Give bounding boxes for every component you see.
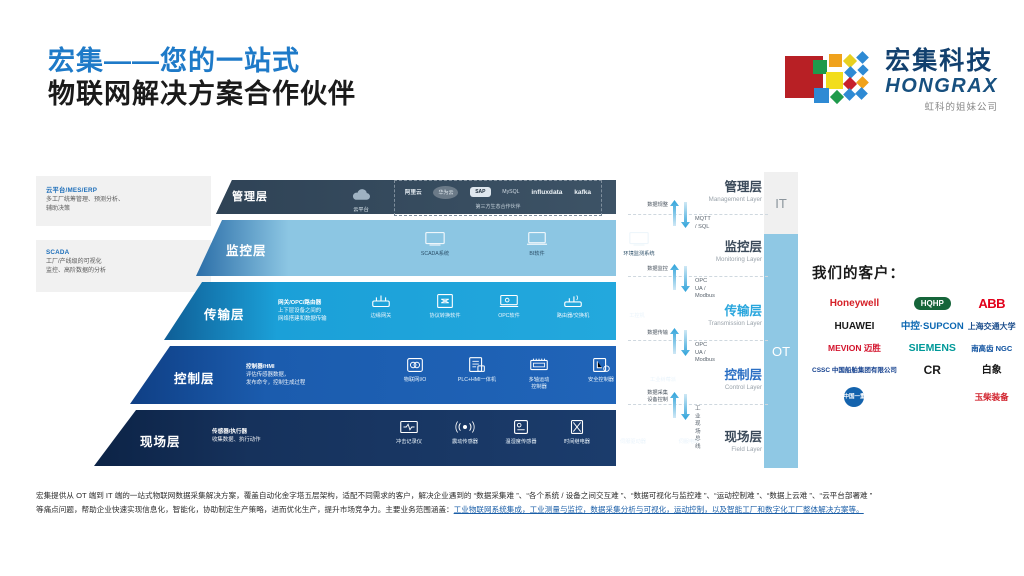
customer-logo-mevion: MEVION 迈胜 — [828, 343, 881, 354]
layer-desc-transmission: 网关/OPC/路由器 上下层设备之间的 网络搭建和数据传输 — [278, 299, 327, 323]
icon-cell-bi-software[interactable]: BI软件 — [510, 230, 564, 258]
layer-desc-body: 上下层设备之间的 网络搭建和数据传输 — [278, 307, 327, 323]
icon-label: 安全控制器 — [588, 377, 614, 384]
icon-label: BI软件 — [529, 251, 544, 258]
arrow-pair-transmission-control: 数据传输 OPC UA / Modbus — [670, 328, 694, 358]
icon-row-management: 云平台 — [334, 186, 388, 214]
footer-description: 宏集提供从 OT 端到 IT 端的一站式物联网数据采集解决方案，覆盖自动化金字塔… — [36, 489, 988, 517]
gateway-icon — [370, 292, 392, 310]
icon-label: 协议转换软件 — [429, 313, 460, 320]
brand-subtitle: 虹科的姐妹公司 — [924, 99, 998, 113]
laptop-icon — [526, 230, 548, 248]
axis-layer-name-en: Management Layer — [709, 195, 762, 204]
axis-layer-name: 传输层 — [708, 304, 762, 319]
opc-software-icon — [498, 292, 520, 310]
arrow-down-label: OPC UA / Modbus — [695, 342, 715, 365]
layer-desc-title: 传感器/执行器 — [212, 428, 261, 436]
safety-controller-icon — [590, 356, 612, 374]
layer-desc-body: 收集数据、执行动作 — [212, 436, 261, 444]
icon-cell-edge-gateway[interactable]: 边缘网关 — [354, 292, 408, 320]
icon-label: 多轴运动 控制器 — [529, 377, 550, 391]
ot-band-label: OT — [764, 234, 798, 468]
arrow-down-icon — [681, 394, 690, 420]
axis-layer-control: 控制层 Control Layer — [724, 368, 762, 392]
arrow-pair-monitoring-transmission: 数据监控 OPC UA / Modbus — [670, 264, 694, 294]
customer-logo-ngc: 南高齿 NGC — [971, 343, 1012, 354]
layer-desc-control: 控制器/HMI 评估传感器数据， 发布命令，控制生成过程 — [246, 363, 305, 387]
icon-label: SCADA系统 — [421, 251, 449, 258]
time-relay-icon — [566, 418, 588, 436]
icon-cell-plc-hmi[interactable]: PLC+HMI一体机 — [450, 356, 504, 384]
arrow-up-label: 数据采集 设备控制 — [636, 390, 668, 404]
iot-io-icon — [404, 356, 426, 374]
icon-label: 边缘网关 — [371, 313, 392, 320]
arrow-pair-control-field: 数据采集 设备控制 工业现场 总线 — [670, 392, 694, 422]
layer-desc-field: 传感器/执行器 收集数据、执行动作 — [212, 428, 261, 444]
arrow-down-label: 工业现场 总线 — [695, 406, 701, 451]
footer-line-1: 宏集提供从 OT 端到 IT 端的一站式物联网数据采集解决方案，覆盖自动化金字塔… — [36, 489, 988, 503]
icon-label: 路由器/交换机 — [557, 313, 590, 320]
footer-business-scope-link[interactable]: 工业物联网系统集成，工业测量与监控，数据采集分析与可视化，运动控制，以及智能工厂… — [454, 505, 864, 514]
motion-controller-icon — [528, 356, 550, 374]
arrow-up-label: 数据传输 — [636, 330, 668, 337]
customer-logo-siemens: SIEMENS — [909, 343, 956, 354]
customer-logo-supcon: 中控·SUPCON — [901, 321, 964, 332]
icon-label: 时间继电器 — [564, 439, 590, 446]
axis-layer-name: 控制层 — [724, 368, 762, 383]
brand-logo-text: 宏集科技 HONGRAX 虹科的姐妹公司 — [885, 48, 998, 113]
axis-layer-name: 管理层 — [709, 180, 762, 195]
partner-strip: 阿里云 华为云 SAP MySQL influxdata kafka 第三方生态… — [394, 180, 602, 216]
arrow-down-label: MQTT / SQL — [695, 216, 711, 231]
kafka-logo: kafka — [574, 189, 591, 196]
customer-logo-hqhp: HQHP — [914, 297, 951, 310]
icon-cell-protocol-converter[interactable]: 协议转换软件 — [418, 292, 472, 320]
customer-logo-grid: Honeywell HQHP ABB HUAWEI 中控·SUPCON 上海交通… — [812, 297, 1008, 407]
customer-logo-baixiang: 白象 — [982, 365, 1002, 376]
axis-layer-name-en: Control Layer — [724, 383, 762, 392]
automation-pyramid-diagram: 云平台/MES/ERP 多工厂统筹管理、预测分析、 辅助决策 SCADA 工厂/… — [36, 168, 796, 478]
customers-panel: 我们的客户： Honeywell HQHP ABB HUAWEI 中控·SUPC… — [812, 262, 1008, 407]
customer-logo-yuchai: 玉柴装备 — [975, 392, 1009, 403]
axis-layer-name: 监控层 — [716, 240, 762, 255]
cloud-platform-icon — [350, 186, 372, 204]
brand-logo: 宏集科技 HONGRAX 虹科的姐妹公司 — [785, 48, 998, 113]
brand-name-cn: 宏集科技 — [885, 48, 993, 75]
icon-cell-scada-system[interactable]: SCADA系统 — [408, 230, 462, 258]
layer-desc-title: 控制器/HMI — [246, 363, 305, 371]
axis-layer-name-en: Field Layer — [724, 445, 762, 454]
layer-label-control: 控制层 — [174, 368, 215, 387]
icon-cell-vibration-sensor[interactable]: 震动传感器 — [438, 418, 492, 446]
icon-cell-motion-controller[interactable]: 多轴运动 控制器 — [512, 356, 566, 391]
customer-logo-huawei: HUAWEI — [834, 321, 874, 332]
icon-label: 云平台 — [353, 207, 369, 214]
arrow-up-icon — [670, 200, 679, 226]
mysql-logo: MySQL — [502, 189, 519, 195]
layer-desc-title: 网关/OPC/路由器 — [278, 299, 327, 307]
customer-logo-citic: 中国一重 — [844, 387, 864, 407]
arrow-pair-management-monitoring: 数据规整 MQTT / SQL — [670, 200, 694, 230]
arrow-down-icon — [681, 330, 690, 356]
customers-title: 我们的客户： — [812, 262, 1008, 283]
layer-desc-body: 评估传感器数据， 发布命令，控制生成过程 — [246, 371, 305, 387]
router-icon — [562, 292, 584, 310]
customer-logo-sjtu: 上海交通大学 — [968, 321, 1016, 332]
layer-axis-column: IT OT 管理层 Management Layer 监控层 Monitorin… — [628, 168, 798, 468]
aliyun-logo: 阿里云 — [405, 188, 422, 196]
shock-recorder-icon — [398, 418, 420, 436]
arrow-up-icon — [670, 264, 679, 290]
influxdata-logo: influxdata — [531, 189, 562, 196]
arrow-up-label: 数据监控 — [636, 266, 668, 273]
it-band-label: IT — [764, 172, 798, 234]
axis-layer-management: 管理层 Management Layer — [709, 180, 762, 204]
icon-cell-cloud-platform[interactable]: 云平台 — [334, 186, 388, 214]
arrow-up-label: 数据规整 — [636, 202, 668, 209]
icon-cell-time-relay[interactable]: 时间继电器 — [550, 418, 604, 446]
icon-cell-temp-humidity-sensor[interactable]: 温湿度传感器 — [494, 418, 548, 446]
vibration-sensor-icon — [454, 418, 476, 436]
brand-name-en: HONGRAX — [885, 75, 998, 97]
icon-label: OPC软件 — [498, 313, 520, 320]
icon-cell-opc-software[interactable]: OPC软件 — [482, 292, 536, 320]
arrow-up-icon — [670, 328, 679, 354]
icon-cell-shock-recorder[interactable]: 冲击记录仪 — [382, 418, 436, 446]
customer-logo-cssc: CSSC 中国船舶集团有限公司 — [812, 365, 897, 376]
footer-line-2: 等痛点问题，帮助企业快速实现信息化，智能化，协助制定生产策略，进而优化生产，提升… — [36, 503, 988, 517]
icon-label: 震动传感器 — [452, 439, 478, 446]
sap-logo: SAP — [470, 187, 490, 197]
icon-row-transmission: 边缘网关 协议转换软件 OPC软件 路由器/交换机 工控机 — [354, 292, 664, 320]
title-line-1: 宏集——您的一站式 — [48, 45, 356, 77]
layer-label-management: 管理层 — [232, 188, 268, 204]
arrow-down-icon — [681, 202, 690, 228]
page-title: 宏集——您的一站式 物联网解决方案合作伙伴 — [48, 45, 356, 111]
customer-logo-cr: CR — [924, 365, 941, 376]
icon-label: 物联网I/O — [404, 377, 426, 384]
protocol-convert-icon — [434, 292, 456, 310]
arrow-up-icon — [670, 392, 679, 418]
axis-layer-name-en: Transmission Layer — [708, 319, 762, 328]
customer-logo-abb: ABB — [978, 298, 1005, 309]
huaweicloud-logo: 华为云 — [433, 186, 458, 199]
arrow-down-icon — [681, 266, 690, 292]
axis-layer-field: 现场层 Field Layer — [724, 430, 762, 454]
plc-hmi-icon — [466, 356, 488, 374]
customer-logo-honeywell: Honeywell — [830, 298, 879, 309]
layer-label-transmission: 传输层 — [204, 304, 245, 323]
icon-label: PLC+HMI一体机 — [458, 377, 496, 384]
icon-cell-safety-controller[interactable]: 安全控制器 — [574, 356, 628, 384]
axis-layer-monitoring: 监控层 Monitoring Layer — [716, 240, 762, 264]
temp-humidity-sensor-icon — [510, 418, 532, 436]
icon-label: 冲击记录仪 — [396, 439, 422, 446]
axis-layer-name: 现场层 — [724, 430, 762, 445]
monitor-icon — [424, 230, 446, 248]
layer-label-field: 现场层 — [140, 431, 181, 450]
layer-label-monitoring: 监控层 — [226, 240, 267, 259]
icon-cell-router-switch[interactable]: 路由器/交换机 — [546, 292, 600, 320]
hongrax-logo-mark-icon — [785, 52, 875, 110]
arrow-down-label: OPC UA / Modbus — [695, 278, 715, 301]
icon-cell-iot-io[interactable]: 物联网I/O — [388, 356, 442, 384]
partner-strip-caption: 第三方生态合作伙伴 — [395, 203, 601, 210]
axis-layer-transmission: 传输层 Transmission Layer — [708, 304, 762, 328]
title-line-2: 物联网解决方案合作伙伴 — [48, 77, 356, 111]
page-header: 宏集——您的一站式 物联网解决方案合作伙伴 宏集科技 HONGRAX 虹科的姐妹… — [0, 0, 1024, 145]
icon-label: 温湿度传感器 — [505, 439, 536, 446]
axis-layer-name-en: Monitoring Layer — [716, 255, 762, 264]
footer-line-2-text: 等痛点问题，帮助企业快速实现信息化，智能化，协助制定生产策略，进而优化生产，提升… — [36, 505, 454, 514]
